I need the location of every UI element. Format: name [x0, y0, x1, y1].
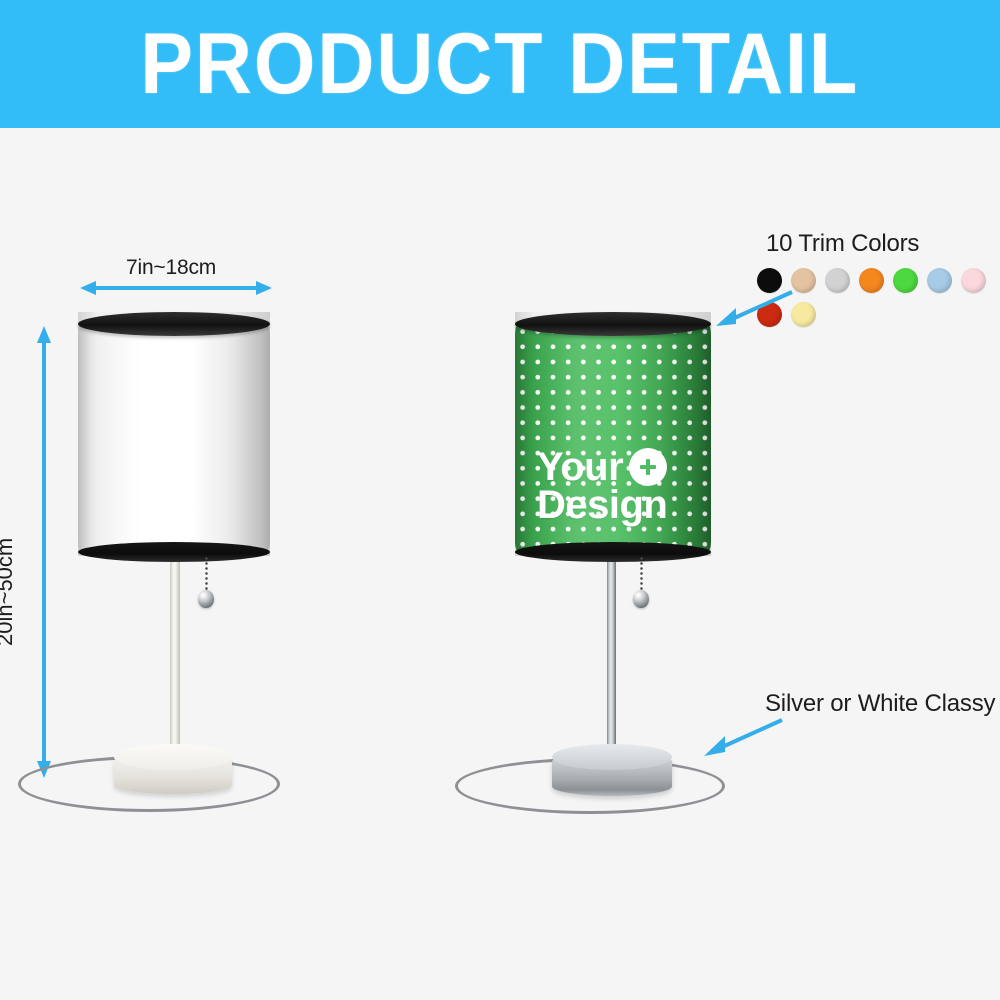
green-shade-design-mark: Your Design — [537, 448, 667, 525]
green-lamp-chain-knob[interactable] — [633, 590, 649, 608]
header-banner: PRODUCT DETAIL — [0, 0, 1000, 128]
trim-color-swatch[interactable] — [859, 268, 884, 293]
plus-circle-icon — [629, 448, 667, 486]
trim-color-swatch[interactable] — [927, 268, 952, 293]
design-line-1: Your — [537, 448, 623, 486]
height-dimension-arrow — [34, 326, 54, 778]
green-shade-top-trim — [515, 312, 711, 336]
base-material-label: Silver or White Classy — [765, 690, 995, 718]
trim-callout-arrow — [712, 288, 798, 328]
product-detail-page: PRODUCT DETAIL Your Design — [0, 0, 1000, 1000]
trim-colors-label: 10 Trim Colors — [766, 230, 919, 258]
silver-lamp-base-top — [552, 744, 672, 770]
page-title: PRODUCT DETAIL — [141, 21, 860, 107]
design-line-2: Design — [537, 486, 667, 524]
white-lamp-base — [114, 752, 232, 794]
white-lamp-pole — [170, 552, 180, 762]
green-lamp-pole — [607, 552, 616, 764]
trim-color-swatch[interactable] — [825, 268, 850, 293]
width-dimension-label: 7in~18cm — [126, 256, 216, 280]
white-lamp-base-top — [114, 744, 232, 770]
white-shade-body — [78, 324, 270, 552]
white-shade-bottom-trim — [78, 542, 270, 562]
width-dimension-arrow — [80, 278, 272, 298]
trim-color-swatch[interactable] — [961, 268, 986, 293]
base-callout-arrow — [700, 714, 786, 758]
white-lamp-shade — [78, 312, 270, 556]
height-dimension-label: 20in~50cm — [0, 538, 18, 646]
white-shade-top-trim — [78, 312, 270, 336]
white-lamp-chain-knob[interactable] — [198, 590, 214, 608]
trim-color-swatch[interactable] — [893, 268, 918, 293]
silver-lamp-base — [552, 752, 672, 796]
green-shade-bottom-trim — [515, 542, 711, 562]
design-line-1-row: Your — [537, 448, 667, 486]
